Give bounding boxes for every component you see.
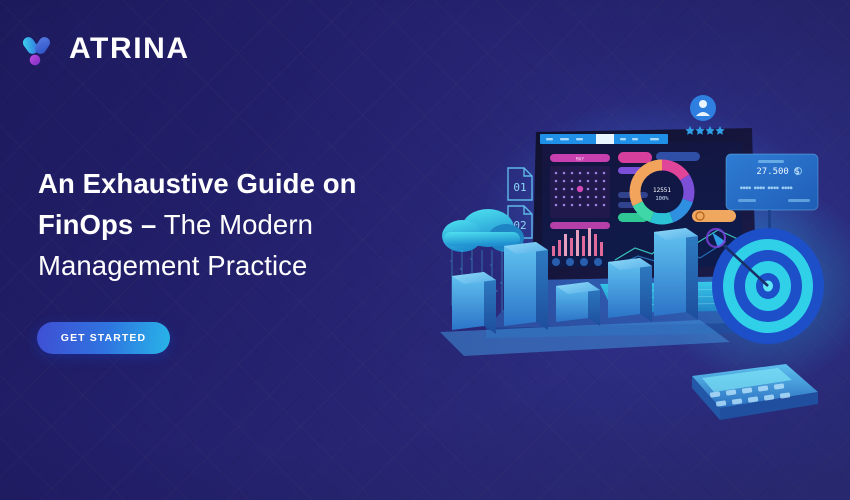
hero-banner: ATRINA An Exhaustive Guide on FinOps – T… [0, 0, 850, 500]
screen-toolbar [540, 134, 668, 144]
svg-text:1: 1 [470, 257, 472, 261]
bar-5 [654, 228, 698, 320]
atrina-logo-mark-icon [22, 30, 58, 68]
finops-dashboard-illustration: MAY [400, 70, 850, 470]
svg-text:0: 0 [500, 281, 502, 285]
bar-1 [452, 272, 496, 334]
svg-text:01: 01 [513, 181, 526, 194]
svg-text:27.500 $: 27.500 $ [756, 167, 799, 177]
svg-text:●●●● ●●●● ●●●● ●●●●: ●●●● ●●●● ●●●● ●●●● [740, 186, 793, 191]
brand-logo[interactable]: ATRINA [22, 30, 190, 68]
bar-2 [504, 242, 548, 330]
svg-text:0: 0 [496, 289, 498, 293]
svg-text:0: 0 [460, 267, 462, 271]
svg-text:100%: 100% [655, 196, 669, 202]
brand-name: ATRINA [69, 34, 190, 64]
svg-text:1: 1 [490, 263, 492, 267]
bar-4 [608, 258, 652, 322]
get-started-button[interactable]: GET STARTED [37, 322, 170, 354]
svg-text:12551: 12551 [653, 187, 671, 194]
svg-text:MAY: MAY [576, 157, 584, 163]
svg-text:1: 1 [450, 259, 452, 263]
page-title: An Exhaustive Guide on FinOps – The Mode… [38, 163, 438, 286]
